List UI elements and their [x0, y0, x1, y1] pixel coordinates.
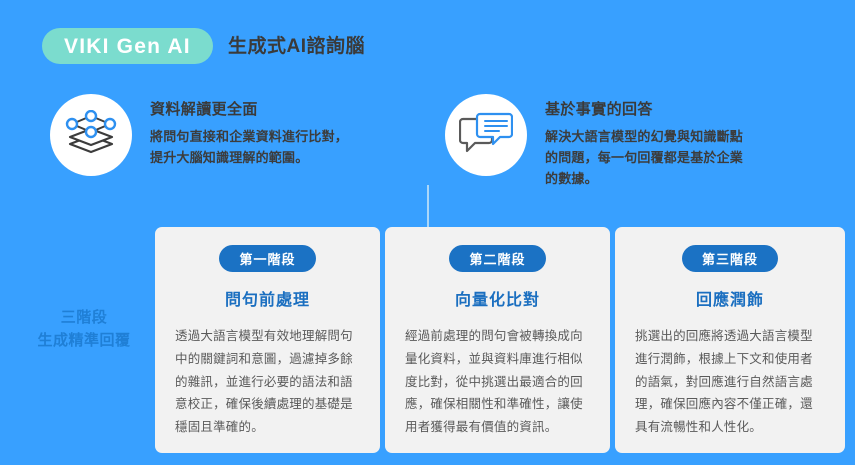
stage-card-1: 第一階段 問句前處理 透過大語言模型有效地理解問句中的關鍵詞和意圖，過濾掉多餘的…	[155, 227, 380, 453]
chat-bubbles-icon	[445, 94, 527, 176]
feature-text: 資料解讀更全面 將問句直接和企業資料進行比對， 提升大腦知識理解的範圍。	[150, 92, 348, 168]
feature-description: 解決大語言模型的幻覺與知識斷點 的問題，每一句回覆都是基於企業 的數據。	[545, 126, 743, 189]
feature-text: 基於事實的回答 解決大語言模型的幻覺與知識斷點 的問題，每一句回覆都是基於企業 …	[545, 92, 743, 189]
features-row: 資料解讀更全面 將問句直接和企業資料進行比對， 提升大腦知識理解的範圍。 基於事…	[0, 92, 855, 214]
stage-card-3: 第三階段 回應潤飾 挑選出的回應將透過大語言模型進行潤飾，根據上下文和使用者的語…	[615, 227, 845, 453]
status-badge: 第三階段	[682, 245, 778, 272]
feature-data-interpretation: 資料解讀更全面 將問句直接和企業資料進行比對， 提升大腦知識理解的範圍。	[50, 92, 420, 176]
card-body: 挑選出的回應將透過大語言模型進行潤飾，根據上下文和使用者的語氣，對回應進行自然語…	[635, 325, 825, 439]
stages-section-label: 三階段 生成精準回覆	[14, 306, 154, 353]
card-body: 經過前處理的問句會被轉換成向量化資料，並與資料庫進行相似度比對，從中挑選出最適合…	[405, 325, 590, 439]
card-title: 問句前處理	[225, 286, 310, 310]
page-title: 生成式AI諮詢腦	[228, 31, 365, 58]
status-badge: 第二階段	[449, 245, 545, 272]
header: VIKI Gen AI 生成式AI諮詢腦	[0, 0, 855, 90]
stage-cards: 第一階段 問句前處理 透過大語言模型有效地理解問句中的關鍵詞和意圖，過濾掉多餘的…	[155, 227, 845, 453]
feature-title: 基於事實的回答	[545, 98, 743, 119]
layers-network-icon	[50, 94, 132, 176]
stage-card-2: 第二階段 向量化比對 經過前處理的問句會被轉換成向量化資料，並與資料庫進行相似度…	[385, 227, 610, 453]
feature-fact-based-answer: 基於事實的回答 解決大語言模型的幻覺與知識斷點 的問題，每一句回覆都是基於企業 …	[445, 92, 845, 189]
status-badge: 第一階段	[219, 245, 315, 272]
brand-pill: VIKI Gen AI	[42, 28, 213, 64]
feature-description: 將問句直接和企業資料進行比對， 提升大腦知識理解的範圍。	[150, 126, 348, 168]
brand-label: VIKI Gen AI	[64, 36, 191, 57]
card-body: 透過大語言模型有效地理解問句中的關鍵詞和意圖，過濾掉多餘的雜訊，並進行必要的語法…	[175, 325, 360, 439]
feature-title: 資料解讀更全面	[150, 98, 348, 119]
card-title: 向量化比對	[455, 286, 540, 310]
infographic-page: VIKI Gen AI 生成式AI諮詢腦 資料解讀更全面 將問句直接和企業資料進…	[0, 0, 855, 465]
card-title: 回應潤飾	[696, 286, 764, 310]
